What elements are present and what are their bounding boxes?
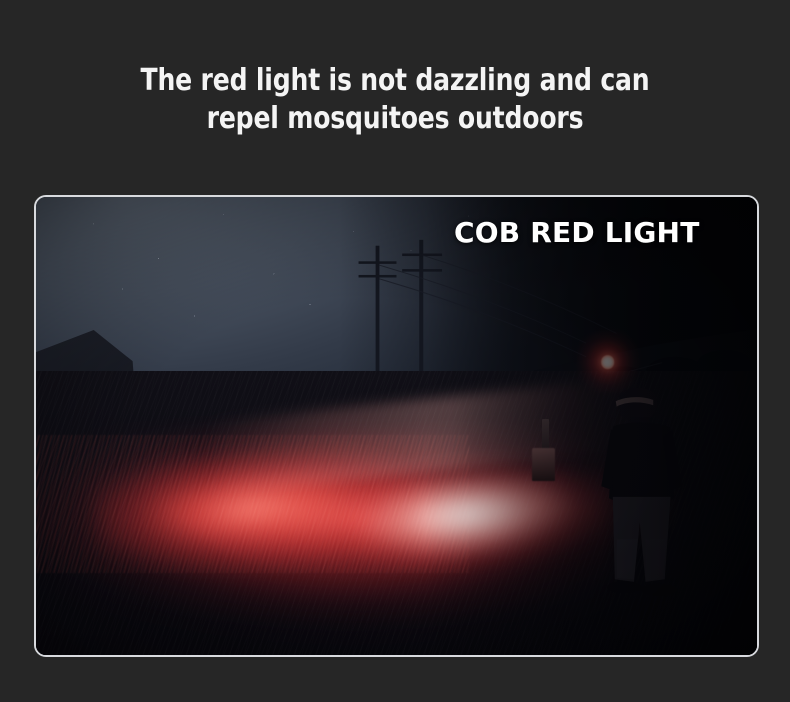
roadside-marker-post: [542, 419, 549, 451]
person-wearing-headlamp: [584, 380, 699, 646]
photo-overlay-title: COB RED LIGHT: [454, 216, 700, 250]
photo-scene: [36, 197, 757, 655]
headline-line-2: repel mosquitoes outdoors: [28, 100, 763, 138]
roadside-marker-base: [532, 448, 555, 481]
page-headline: The red light is not dazzling and can re…: [0, 62, 790, 138]
headlamp-red-core: [601, 355, 615, 369]
product-photo-panel: COB RED LIGHT: [34, 195, 759, 657]
headline-line-1: The red light is not dazzling and can: [28, 62, 763, 100]
